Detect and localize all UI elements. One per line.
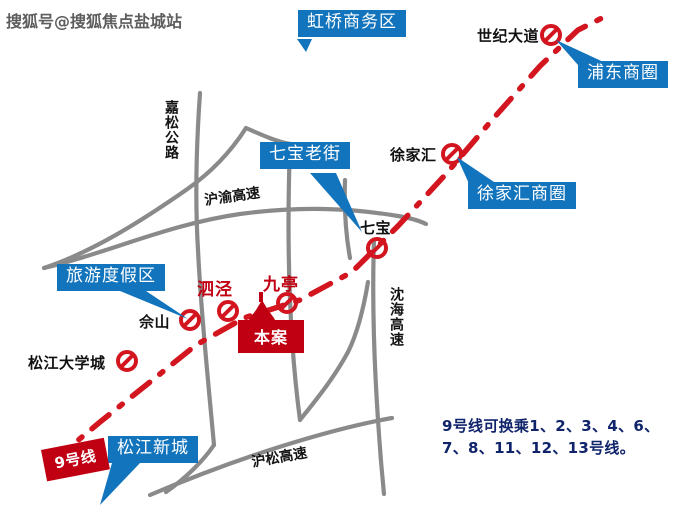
road-jiasong-road — [196, 93, 214, 445]
station-marker-sheshan — [181, 311, 199, 329]
station-label-sijing: 泗泾 — [197, 275, 233, 300]
watermark-text: 搜狐号@搜狐焦点盐城站 — [6, 8, 182, 32]
station-label-sheshan: 佘山 — [139, 311, 170, 332]
station-marker-qibao — [368, 239, 386, 257]
callout-pudong-business-circle[interactable]: 浦东商圈 — [578, 61, 668, 88]
station-marker-xujiahui — [443, 145, 461, 163]
callout-xujiahui-business-circle[interactable]: 徐家汇商圈 — [468, 182, 576, 209]
station-label-xujiahui: 徐家汇 — [390, 144, 437, 165]
station-label-songjiang-university-town: 松江大学城 — [28, 352, 106, 373]
station-marker-jiuting — [278, 294, 296, 312]
metro-line-9-path — [52, 14, 610, 462]
station-label-qibao: 七宝 — [360, 217, 391, 238]
project-marker-label[interactable]: 本案 — [238, 320, 304, 353]
callout-songjiang-new-town[interactable]: 松江新城 — [108, 436, 198, 463]
callout-pointer-hongqiao — [297, 39, 312, 52]
road-network — [44, 93, 426, 495]
transfer-note-text: 9号线可换乘1、2、3、4、6、 7、8、11、12、13号线。 — [442, 416, 659, 460]
road-label-shenhai-expressway: 沈海高速 — [386, 287, 406, 347]
metro-location-map: 搜狐号@搜狐焦点盐城站 虹桥商务区 浦东商圈 徐家汇商圈 七宝老街 旅游度假区 … — [0, 0, 674, 507]
callout-tourist-resort[interactable]: 旅游度假区 — [57, 264, 165, 291]
station-label-century-avenue: 世纪大道 — [477, 25, 539, 46]
callout-hongqiao-business-district[interactable]: 虹桥商务区 — [298, 10, 406, 37]
station-marker-songjiang-university-town — [118, 352, 136, 370]
callout-pointer-qibao-old-street — [310, 173, 362, 232]
station-marker-sijing — [219, 302, 237, 320]
road-lower-right-branch — [300, 282, 368, 420]
road-label-jiasong-road: 嘉松公路 — [161, 100, 181, 160]
metro-line-9 — [52, 14, 610, 462]
road-shenhai-expressway — [373, 240, 384, 494]
station-label-jiuting: 九亭 — [263, 270, 299, 295]
callout-qibao-old-street[interactable]: 七宝老街 — [260, 142, 350, 169]
road-qibao-branch — [345, 180, 350, 258]
